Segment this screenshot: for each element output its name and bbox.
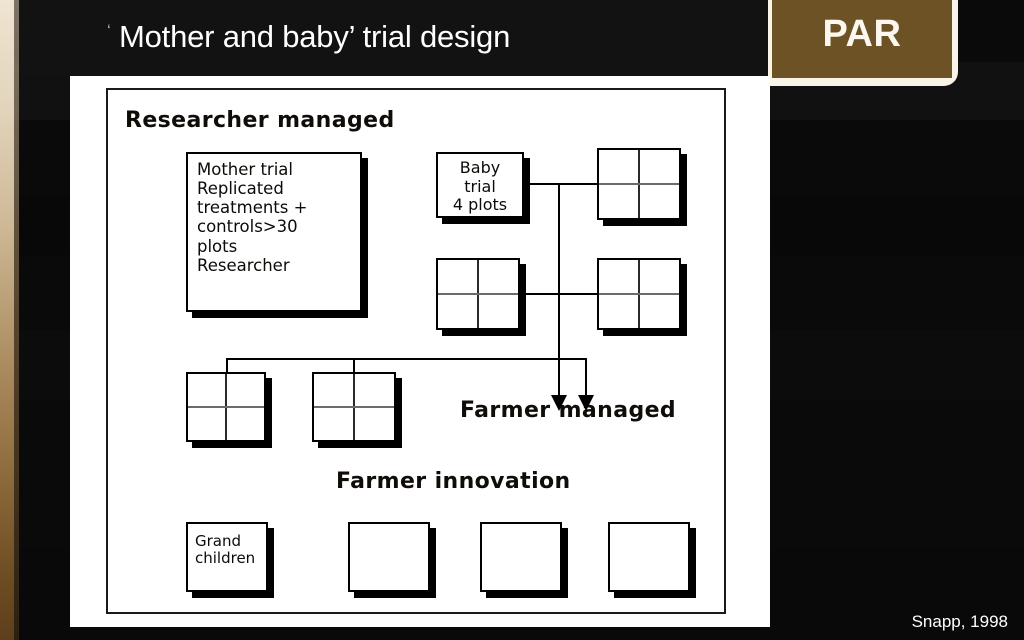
mother-trial-box: Mother trial Replicated treatments + con… [186, 152, 362, 312]
grid-divider-horizontal [599, 183, 679, 185]
innovation-plot-box-3 [480, 522, 562, 592]
grid-divider-horizontal [599, 293, 679, 295]
connector-stub-grid-1 [226, 358, 228, 374]
connector-baby-to-top-right [524, 183, 599, 185]
plot-grid-bottom-left-1 [186, 372, 266, 442]
innovation-plot-box-4 [608, 522, 690, 592]
grid-divider-horizontal [188, 406, 264, 408]
plot-grid-middle-right [597, 258, 681, 330]
plot-grid-top-right [597, 148, 681, 220]
heading-researcher-managed: Researcher managed [125, 108, 395, 133]
diagram-frame: Researcher managed Farmer managed Farmer… [106, 88, 726, 614]
grid-divider-horizontal [438, 293, 518, 295]
citation-label: Snapp, 1998 [912, 612, 1008, 632]
heading-farmer-innovation: Farmer innovation [336, 469, 571, 494]
baby-trial-text: Baby trial 4 plots [438, 159, 522, 215]
arrow-head-icon [578, 395, 594, 411]
par-badge: PAR [772, 0, 952, 78]
mother-trial-text: Mother trial Replicated treatments + con… [197, 160, 307, 275]
grandchildren-text: Grand children [195, 533, 255, 568]
left-accent-strip [0, 0, 14, 640]
baby-trial-box: Baby trial 4 plots [436, 152, 524, 218]
page-title: Mother and baby’ trial design [119, 19, 510, 55]
arrow-head-icon [551, 395, 567, 411]
slide-canvas: ‘ Mother and baby’ trial design PAR Rese… [0, 0, 1024, 640]
plot-grid-middle-left [436, 258, 520, 330]
par-badge-label: PAR [823, 13, 902, 56]
title-open-quote: ‘ [107, 22, 111, 39]
connector-stub-grid-2 [353, 358, 355, 374]
left-accent-strip-edge [14, 0, 19, 640]
connector-innovation-bus [226, 358, 586, 360]
plot-grid-bottom-left-2 [312, 372, 396, 442]
grandchildren-plot-box: Grand children [186, 522, 268, 592]
innovation-plot-box-2 [348, 522, 430, 592]
content-panel: Researcher managed Farmer managed Farmer… [70, 76, 770, 627]
grid-divider-horizontal [314, 406, 394, 408]
connector-vertical-trunk [558, 183, 560, 401]
heading-farmer-managed: Farmer managed [460, 398, 676, 423]
title-bar: ‘ Mother and baby’ trial design [19, 0, 768, 76]
